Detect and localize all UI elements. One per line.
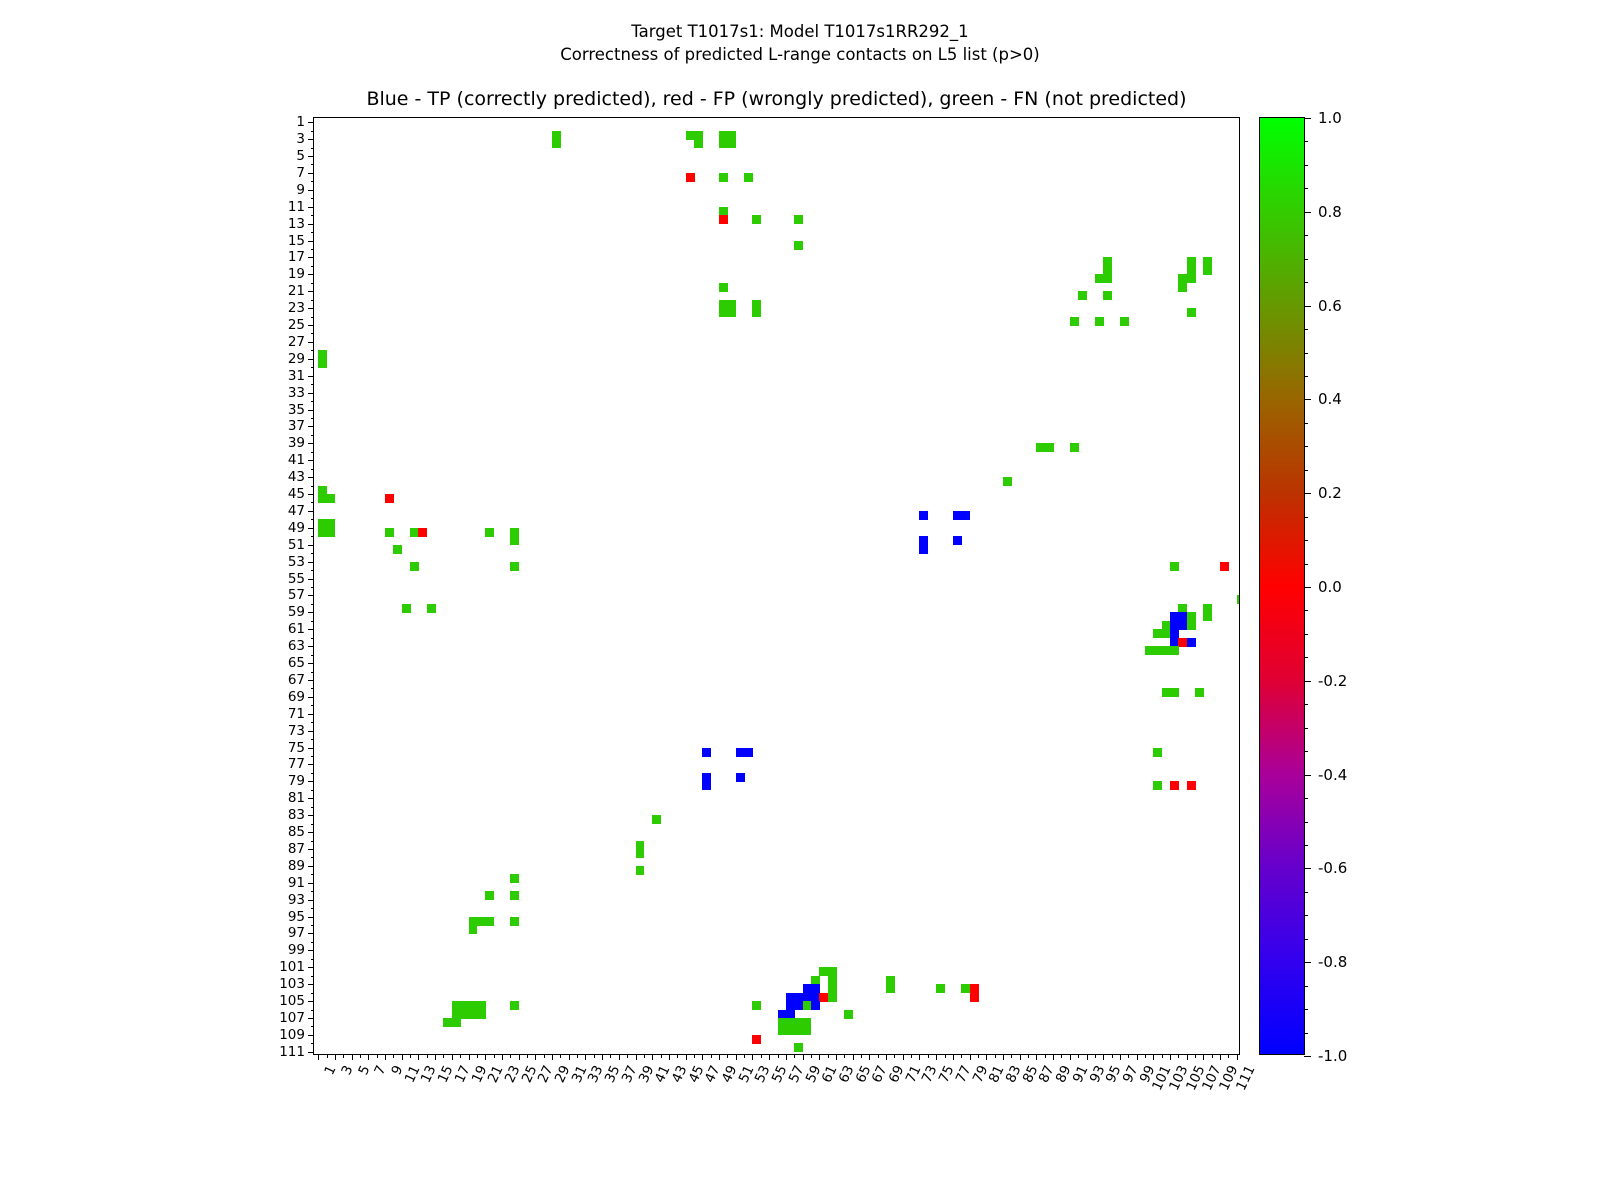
- colorbar-tick: [1304, 118, 1311, 119]
- x-axis-tick-major: [552, 1054, 553, 1060]
- y-axis-label: 9: [296, 182, 305, 198]
- y-axis-tick-major: [308, 883, 314, 884]
- contact-cell-fn: [1178, 283, 1187, 292]
- y-axis-tick-minor: [311, 959, 315, 960]
- y-axis-label: 29: [288, 351, 305, 367]
- colorbar-tick-label: -0.6: [1318, 859, 1347, 877]
- x-axis-tick-major: [469, 1054, 470, 1060]
- y-axis-label: 67: [288, 672, 305, 688]
- x-axis-tick-minor: [661, 1054, 662, 1058]
- y-axis-tick-minor: [311, 401, 315, 402]
- contact-cell-fp: [719, 215, 728, 224]
- y-axis-tick-minor: [311, 181, 315, 182]
- contact-cell-fn: [427, 604, 436, 613]
- y-axis-tick-major: [308, 376, 314, 377]
- y-axis-tick-minor: [311, 249, 315, 250]
- y-axis-tick-minor: [311, 705, 315, 706]
- x-axis-tick-major: [1020, 1054, 1021, 1060]
- colorbar-tick: [1304, 1056, 1311, 1057]
- y-axis-tick-minor: [311, 857, 315, 858]
- x-axis-tick-major: [970, 1054, 971, 1060]
- colorbar-tick-label: 0.8: [1318, 203, 1342, 221]
- contact-cell-fn: [510, 891, 519, 900]
- colorbar-tick-label: -1.0: [1318, 1047, 1347, 1065]
- x-axis-tick-major: [619, 1054, 620, 1060]
- contact-cell-fn: [752, 1001, 761, 1010]
- y-axis-label: 21: [288, 283, 305, 299]
- y-axis-tick-major: [308, 595, 314, 596]
- x-axis-tick-minor: [1095, 1054, 1096, 1058]
- x-axis-label: 3: [338, 1063, 356, 1078]
- x-axis-tick-minor: [1128, 1054, 1129, 1058]
- colorbar-tick-minor: [1304, 751, 1308, 752]
- y-axis-tick-major: [308, 967, 314, 968]
- colorbar-tick: [1304, 962, 1311, 963]
- y-axis-tick-major: [308, 748, 314, 749]
- y-axis-label: 15: [288, 233, 305, 249]
- contact-cell-fp: [1220, 562, 1229, 571]
- x-axis-tick-major: [352, 1054, 353, 1060]
- y-axis-label: 47: [288, 503, 305, 519]
- x-axis-tick-minor: [560, 1054, 561, 1058]
- y-axis-tick-minor: [311, 384, 315, 385]
- contact-cell-fn: [803, 1026, 812, 1035]
- y-axis-tick-major: [308, 1035, 314, 1036]
- y-axis-tick-minor: [311, 756, 315, 757]
- contact-cell-fn: [1203, 266, 1212, 275]
- colorbar-tick-label: -0.4: [1318, 766, 1347, 784]
- y-axis-label: 87: [288, 841, 305, 857]
- colorbar-tick-minor: [1304, 446, 1308, 447]
- y-axis-tick-minor: [311, 807, 315, 808]
- y-axis-tick-major: [308, 798, 314, 799]
- x-axis-tick-minor: [360, 1054, 361, 1058]
- colorbar-tick: [1304, 868, 1311, 869]
- x-axis-tick-major: [368, 1054, 369, 1060]
- colorbar-tick-label: 0.4: [1318, 390, 1342, 408]
- y-axis-tick-major: [308, 393, 314, 394]
- x-axis-tick-minor: [928, 1054, 929, 1058]
- contact-cell-fn: [794, 241, 803, 250]
- x-axis-tick-minor: [393, 1054, 394, 1058]
- x-axis-tick-major: [953, 1054, 954, 1060]
- contact-cell-fn: [318, 359, 327, 368]
- x-axis-tick-major: [435, 1054, 436, 1060]
- y-axis-tick-major: [308, 426, 314, 427]
- y-axis-tick-major: [308, 325, 314, 326]
- x-axis-tick-major: [1170, 1054, 1171, 1060]
- x-axis-tick-major: [769, 1054, 770, 1060]
- y-axis-label: 11: [288, 199, 305, 215]
- colorbar-tick-minor: [1304, 540, 1308, 541]
- y-axis-tick-minor: [311, 198, 315, 199]
- x-axis-tick-minor: [811, 1054, 812, 1058]
- x-axis-tick-minor: [510, 1054, 511, 1058]
- x-axis-tick-minor: [477, 1054, 478, 1058]
- x-axis-tick-major: [669, 1054, 670, 1060]
- y-axis-tick-minor: [311, 993, 315, 994]
- x-axis-tick-major: [1036, 1054, 1037, 1060]
- colorbar-tick-minor: [1304, 165, 1308, 166]
- y-axis-label: 111: [279, 1044, 305, 1060]
- contact-cell-fn: [1187, 308, 1196, 317]
- contact-cell-fn: [1187, 621, 1196, 630]
- y-axis-tick-major: [308, 257, 314, 258]
- contact-cell-fn: [1070, 443, 1079, 452]
- contact-cell-fn: [1103, 274, 1112, 283]
- y-axis-label: 51: [288, 537, 305, 553]
- x-axis-tick-minor: [1078, 1054, 1079, 1058]
- y-axis-label: 71: [288, 706, 305, 722]
- x-axis-tick-major: [585, 1054, 586, 1060]
- y-axis-label: 57: [288, 587, 305, 603]
- x-axis-tick-major: [1053, 1054, 1054, 1060]
- y-axis-tick-minor: [311, 502, 315, 503]
- x-axis-tick-minor: [961, 1054, 962, 1058]
- contact-cell-fp: [970, 993, 979, 1002]
- contact-cell-fn: [485, 528, 494, 537]
- y-axis-label: 81: [288, 790, 305, 806]
- y-axis-tick-major: [308, 984, 314, 985]
- x-axis-tick-minor: [544, 1054, 545, 1058]
- x-axis-tick-major: [836, 1054, 837, 1060]
- contact-cell-fn: [828, 993, 837, 1002]
- colorbar-tick-minor: [1304, 657, 1308, 658]
- x-axis-tick-minor: [610, 1054, 611, 1058]
- y-axis-label: 23: [288, 300, 305, 316]
- x-axis-tick-minor: [744, 1054, 745, 1058]
- x-axis-tick-minor: [627, 1054, 628, 1058]
- y-axis-label: 103: [279, 976, 305, 992]
- y-axis-tick-minor: [311, 266, 315, 267]
- y-axis-tick-major: [308, 950, 314, 951]
- x-axis-tick-minor: [995, 1054, 996, 1058]
- y-axis-label: 17: [288, 249, 305, 265]
- y-axis-label: 13: [288, 216, 305, 232]
- contact-cell-fn: [1170, 646, 1179, 655]
- colorbar-tick-label: 0.6: [1318, 297, 1342, 315]
- y-axis-tick-minor: [311, 452, 315, 453]
- x-axis-tick-major: [519, 1054, 520, 1060]
- axes-legend-title: Blue - TP (correctly predicted), red - F…: [313, 88, 1240, 110]
- x-axis-tick-major: [652, 1054, 653, 1060]
- colorbar-tick-minor: [1304, 470, 1308, 471]
- y-axis-tick-major: [308, 274, 314, 275]
- y-axis-tick-minor: [311, 215, 315, 216]
- y-axis-tick-major: [308, 579, 314, 580]
- y-axis-label: 77: [288, 756, 305, 772]
- y-axis-label: 59: [288, 604, 305, 620]
- y-axis-tick-major: [308, 815, 314, 816]
- x-axis-tick-major: [1003, 1054, 1004, 1060]
- y-axis-tick-major: [308, 917, 314, 918]
- x-axis-tick-minor: [1011, 1054, 1012, 1058]
- x-axis-tick-minor: [343, 1054, 344, 1058]
- x-axis-tick-minor: [443, 1054, 444, 1058]
- y-axis-tick-minor: [311, 874, 315, 875]
- y-axis-label: 7: [296, 165, 305, 181]
- contact-cell-fn: [1153, 781, 1162, 790]
- x-axis-tick-minor: [577, 1054, 578, 1058]
- y-axis-label: 99: [288, 942, 305, 958]
- colorbar-tick-minor: [1304, 1009, 1308, 1010]
- contact-cell-fn: [327, 494, 336, 503]
- y-axis-tick-minor: [311, 672, 315, 673]
- y-axis-tick-minor: [311, 283, 315, 284]
- contact-cell-fn: [393, 545, 402, 554]
- x-axis-tick-major: [318, 1054, 319, 1060]
- x-axis-tick-minor: [677, 1054, 678, 1058]
- y-axis-label: 43: [288, 469, 305, 485]
- x-axis-tick-major: [702, 1054, 703, 1060]
- y-axis-tick-major: [308, 900, 314, 901]
- contact-cell-fn: [1187, 274, 1196, 283]
- y-axis-tick-minor: [311, 570, 315, 571]
- contact-cell-fn: [1078, 291, 1087, 300]
- contact-cell-tp: [702, 781, 711, 790]
- contact-cell-tp: [953, 536, 962, 545]
- colorbar-tick-minor: [1304, 259, 1308, 260]
- x-axis-tick-minor: [377, 1054, 378, 1058]
- x-axis-tick-major: [636, 1054, 637, 1060]
- y-axis-tick-minor: [311, 722, 315, 723]
- x-axis-tick-minor: [1178, 1054, 1179, 1058]
- y-axis-tick-minor: [311, 688, 315, 689]
- contact-cell-fp: [752, 1035, 761, 1044]
- x-axis-tick-minor: [761, 1054, 762, 1058]
- x-axis-tick-major: [752, 1054, 753, 1060]
- contact-cell-fn: [727, 308, 736, 317]
- y-axis-label: 85: [288, 824, 305, 840]
- contact-cell-fn: [844, 1010, 853, 1019]
- contact-cell-fn: [1070, 317, 1079, 326]
- y-axis-label: 65: [288, 655, 305, 671]
- contact-cell-fn: [652, 815, 661, 824]
- contact-cell-fp: [385, 494, 394, 503]
- colorbar-tick-label: -0.2: [1318, 672, 1347, 690]
- y-axis-tick-major: [308, 781, 314, 782]
- x-axis-tick-major: [1220, 1054, 1221, 1060]
- x-axis-tick-minor: [1195, 1054, 1196, 1058]
- x-axis-tick-minor: [527, 1054, 528, 1058]
- x-axis-tick-major: [535, 1054, 536, 1060]
- x-axis-tick-major: [1237, 1054, 1238, 1060]
- colorbar-gradient: [1259, 117, 1305, 1055]
- x-axis-tick-major: [1137, 1054, 1138, 1060]
- y-axis-label: 37: [288, 418, 305, 434]
- colorbar-tick-minor: [1304, 564, 1308, 565]
- y-axis-tick-minor: [311, 655, 315, 656]
- x-axis-tick-minor: [844, 1054, 845, 1058]
- y-axis-tick-major: [308, 680, 314, 681]
- contact-cell-fn: [410, 562, 419, 571]
- x-axis-tick-major: [886, 1054, 887, 1060]
- contact-cell-fp: [686, 173, 695, 182]
- colorbar-tick: [1304, 493, 1311, 494]
- y-axis-tick-minor: [311, 131, 315, 132]
- y-axis-tick-minor: [311, 553, 315, 554]
- y-axis-tick-minor: [311, 435, 315, 436]
- y-axis-label: 73: [288, 723, 305, 739]
- x-axis-tick-minor: [694, 1054, 695, 1058]
- y-axis-tick-minor: [311, 824, 315, 825]
- x-axis-tick-minor: [978, 1054, 979, 1058]
- contact-cell-fn: [1195, 688, 1204, 697]
- x-axis-tick-minor: [644, 1054, 645, 1058]
- colorbar-tick-minor: [1304, 423, 1308, 424]
- y-axis-tick-minor: [311, 604, 315, 605]
- contact-cell-fn: [552, 139, 561, 148]
- y-axis-label: 61: [288, 621, 305, 637]
- y-axis-tick-major: [308, 849, 314, 850]
- suptitle-line-2: Correctness of predicted L-range contact…: [0, 43, 1600, 66]
- y-axis-tick-minor: [311, 1026, 315, 1027]
- y-axis-tick-major: [308, 528, 314, 529]
- colorbar-tick-minor: [1304, 775, 1308, 776]
- y-axis-tick-major: [308, 156, 314, 157]
- y-axis-label: 91: [288, 875, 305, 891]
- colorbar-tick: [1304, 587, 1311, 588]
- y-axis-label: 31: [288, 368, 305, 384]
- colorbar-tick: [1304, 399, 1311, 400]
- contact-cell-tp: [744, 748, 753, 757]
- x-axis-tick-major: [335, 1054, 336, 1060]
- colorbar-tick-minor: [1304, 610, 1308, 611]
- y-axis-tick-major: [308, 241, 314, 242]
- contact-cell-fn: [752, 215, 761, 224]
- y-axis-tick-major: [308, 646, 314, 647]
- colorbar-tick-minor: [1304, 329, 1308, 330]
- contact-map-matrix: [314, 118, 1239, 1054]
- y-axis-tick-major: [308, 764, 314, 765]
- colorbar-tick-minor: [1304, 892, 1308, 893]
- x-axis-tick-minor: [1228, 1054, 1229, 1058]
- y-axis-tick-minor: [311, 1010, 315, 1011]
- y-axis-tick-minor: [311, 587, 315, 588]
- x-axis-tick-minor: [878, 1054, 879, 1058]
- figure-suptitle: Target T1017s1: Model T1017s1RR292_1 Cor…: [0, 20, 1600, 66]
- y-axis-label: 41: [288, 452, 305, 468]
- colorbar-tick-label: 0.2: [1318, 484, 1342, 502]
- y-axis-tick-minor: [311, 333, 315, 334]
- x-axis-tick-major: [1153, 1054, 1154, 1060]
- y-axis-tick-minor: [311, 773, 315, 774]
- y-axis-tick-major: [308, 714, 314, 715]
- y-axis-tick-major: [308, 612, 314, 613]
- y-axis-tick-minor: [311, 536, 315, 537]
- y-axis-tick-minor: [311, 469, 315, 470]
- contact-cell-fn: [694, 139, 703, 148]
- y-axis-tick-major: [308, 443, 314, 444]
- y-axis-tick-major: [308, 1018, 314, 1019]
- contact-cell-fn: [719, 283, 728, 292]
- contact-cell-fn: [469, 925, 478, 934]
- contact-cell-fn: [1203, 612, 1212, 621]
- x-axis-label: 1: [322, 1063, 340, 1078]
- x-axis-tick-minor: [460, 1054, 461, 1058]
- y-axis-label: 97: [288, 925, 305, 941]
- y-axis-label: 35: [288, 402, 305, 418]
- y-axis-tick-minor: [311, 925, 315, 926]
- y-axis-tick-major: [308, 494, 314, 495]
- y-axis-tick-minor: [311, 164, 315, 165]
- y-axis-label: 101: [279, 959, 305, 975]
- x-axis-tick-minor: [945, 1054, 946, 1058]
- contact-cell-fn: [752, 308, 761, 317]
- contact-cell-fn: [936, 984, 945, 993]
- x-axis-tick-major: [719, 1054, 720, 1060]
- x-axis-tick-minor: [894, 1054, 895, 1058]
- x-axis-tick-major: [418, 1054, 419, 1060]
- x-axis-tick-minor: [1112, 1054, 1113, 1058]
- colorbar: 1.00.80.60.40.20.0-0.2-0.4-0.6-0.8-1.0: [1259, 117, 1305, 1055]
- colorbar-tick-minor: [1304, 634, 1308, 635]
- contact-cell-fn: [719, 173, 728, 182]
- y-axis-label: 25: [288, 317, 305, 333]
- x-axis-tick-major: [936, 1054, 937, 1060]
- y-axis-label: 95: [288, 909, 305, 925]
- y-axis-label: 83: [288, 807, 305, 823]
- contact-cell-fn: [1095, 317, 1104, 326]
- colorbar-tick-minor: [1304, 235, 1308, 236]
- y-axis-tick-major: [308, 1001, 314, 1002]
- contact-cell-fn: [477, 1010, 486, 1019]
- contact-cell-tp: [961, 511, 970, 520]
- y-axis-label: 39: [288, 435, 305, 451]
- contact-cell-fp: [1187, 781, 1196, 790]
- y-axis-label: 27: [288, 334, 305, 350]
- y-axis-tick-minor: [311, 486, 315, 487]
- contact-cell-fn: [1045, 443, 1054, 452]
- contact-cell-fp: [418, 528, 427, 537]
- contact-cell-fn: [510, 1001, 519, 1010]
- colorbar-tick-minor: [1304, 845, 1308, 846]
- x-axis-tick-major: [602, 1054, 603, 1060]
- contact-cell-fn: [452, 1018, 461, 1027]
- y-axis-label: 19: [288, 266, 305, 282]
- colorbar-tick-minor: [1304, 915, 1308, 916]
- x-axis-tick-minor: [1061, 1054, 1062, 1058]
- y-axis-tick-major: [308, 933, 314, 934]
- x-axis-tick-major: [1120, 1054, 1121, 1060]
- colorbar-tick-label: 1.0: [1318, 109, 1342, 127]
- x-axis-tick-minor: [494, 1054, 495, 1058]
- y-axis-label: 105: [279, 993, 305, 1009]
- y-axis-label: 79: [288, 773, 305, 789]
- contact-cell-fn: [1170, 688, 1179, 697]
- y-axis-label: 5: [296, 148, 305, 164]
- x-axis-label: 7: [372, 1063, 390, 1078]
- x-axis-tick-minor: [1145, 1054, 1146, 1058]
- x-axis-tick-major: [1203, 1054, 1204, 1060]
- y-axis-label: 49: [288, 520, 305, 536]
- x-axis-tick-major: [1087, 1054, 1088, 1060]
- x-axis-tick-major: [385, 1054, 386, 1060]
- contact-cell-tp: [702, 748, 711, 757]
- colorbar-tick-minor: [1304, 141, 1308, 142]
- y-axis-tick-major: [308, 173, 314, 174]
- contact-cell-tp: [811, 1001, 820, 1010]
- y-axis-tick-minor: [311, 148, 315, 149]
- contact-cell-tp: [736, 773, 745, 782]
- y-axis-tick-minor: [311, 976, 315, 977]
- contact-map-plot[interactable]: 1357911131517192123252729313335373941434…: [313, 117, 1240, 1055]
- x-axis-tick-major: [1070, 1054, 1071, 1060]
- y-axis-tick-minor: [311, 790, 315, 791]
- x-axis-tick-minor: [711, 1054, 712, 1058]
- y-axis-tick-minor: [311, 621, 315, 622]
- y-axis-tick-minor: [311, 908, 315, 909]
